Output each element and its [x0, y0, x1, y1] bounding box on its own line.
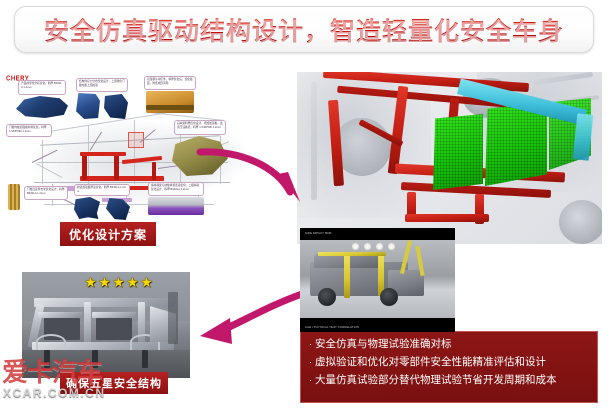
biw-roof-rail: [34, 298, 174, 307]
design-scheme-caption-text: 优化设计方案: [69, 226, 147, 243]
red-member-b-pillar: [82, 154, 87, 180]
five-star-rating: ★ ★ ★ ★ ★: [84, 276, 153, 289]
sim-ghost-pillar: [311, 82, 317, 200]
callout-b-pillar-upper: 结构件应力分布优化设计，上部简化门槛内板上部加强: [76, 78, 128, 92]
biw-rear-door-aperture: [96, 318, 132, 340]
side-impact-simulation-image: [297, 72, 602, 244]
sim-ghost-wheel-lower: [559, 200, 602, 244]
sim-green-door-front: [431, 114, 483, 190]
bullet-text: 安全仿真与物理试验准确对标: [315, 337, 452, 352]
part-render-front-bracket: [8, 184, 20, 210]
red-member-c-pillar: [114, 152, 119, 180]
callout-text: 门槛连接件支架优化设计，料厚 B340LA 1.2mm: [27, 188, 65, 195]
star-icon: ★: [126, 276, 139, 289]
callout-text: 结构件应力分布优化设计，上部简化门槛内板上部加强: [79, 80, 125, 87]
bullet-item: · 虚拟验证和优化对零部件安全性能精准评估和设计: [309, 355, 589, 370]
sim-red-floor-beam: [405, 214, 489, 222]
page-title: 安全仿真驱动结构设计，智造轻量化安全车身: [44, 12, 564, 48]
callout-sill-section: 高强钢冷冲压件，料厚优化后，优化截面，降低成形风险: [144, 76, 196, 90]
arrow-design-to-simulation: [196, 128, 308, 204]
callout-text: 产品成型性分析优化，料厚 B340LA 1.2mm: [21, 82, 63, 89]
arrow-simulation-to-physical: [196, 288, 308, 360]
bullet-item: · 安全仿真与物理试验准确对标: [309, 337, 589, 352]
callout-text: 座椅横梁与地板纵梁连接优化，二级焊接优化设计，料厚 B340LA 1.2mm: [151, 184, 201, 191]
callout-text: 铰链加强板厚度优化，料厚 B340LA 1.2mm: [77, 186, 127, 193]
crash-lamp: [376, 243, 383, 250]
callout-front-bracket: 门槛连接件支架优化设计，料厚 B340LA 1.2mm: [24, 186, 68, 200]
callout-front-wheelhouse: 产品成型性分析优化，料厚 B340LA 1.2mm: [18, 80, 66, 95]
crash-test-inset: SIDE IMPACT MDB CAE / PHYSICAL TEST CORR…: [300, 228, 455, 332]
workshop-column: [168, 292, 178, 344]
red-member-rear-post: [152, 162, 156, 180]
bullet-item: · 大量仿真试验部分替代物理试验节省开发周期和成本: [309, 373, 589, 388]
crash-test-frame: [300, 240, 455, 318]
callout-text: 门槛内板加强板材料优化，料厚 1.5/DP590 1.4mm: [9, 126, 49, 133]
watermark-cn-text: 爱卡汽车: [2, 358, 102, 386]
biw-support-stand: [142, 350, 148, 368]
design-scheme-caption: 优化设计方案: [60, 222, 156, 246]
star-icon: ★: [112, 276, 125, 289]
bullet-text: 大量仿真试验部分替代物理试验节省开发周期和成本: [315, 373, 557, 388]
site-watermark: 爱卡汽车 XCAR.COM.CN: [2, 358, 126, 404]
callout-door-inner: 门槛内板加强板材料优化，料厚 1.5/DP590 1.4mm: [6, 124, 52, 137]
bullet-dot-icon: ·: [309, 337, 312, 352]
bullet-dot-icon: ·: [309, 373, 312, 388]
bullet-text: 虚拟验证和优化对零部件安全性能精准评估和设计: [315, 355, 546, 370]
red-member-cross: [80, 152, 126, 156]
bullet-dot-icon: ·: [309, 355, 312, 370]
crash-inset-bottom-caption: CAE / PHYSICAL TEST CORRELATION: [305, 325, 359, 329]
part-render-sill-base: [146, 105, 194, 110]
crash-wheel-front: [318, 288, 336, 306]
star-icon: ★: [140, 276, 153, 289]
crash-yellow-b-pillar: [344, 252, 350, 298]
star-icon: ★: [84, 276, 97, 289]
star-icon: ★: [98, 276, 111, 289]
slide-title-banner: 安全仿真驱动结构设计，智造轻量化安全车身: [14, 6, 594, 53]
callout-text: 高强钢冷冲压件，料厚优化后，优化截面，降低成形风险: [147, 78, 193, 85]
crash-yellow-roof: [318, 252, 386, 256]
crash-wheel-rear: [380, 288, 398, 306]
part-render-hinge-a: [74, 197, 100, 219]
sim-green-door-rear: [485, 102, 547, 186]
part-render-front-wheelhouse: [16, 96, 68, 118]
conclusion-bullet-panel: · 安全仿真与物理试验准确对标 · 虚拟验证和优化对零部件安全性能精准评估和设计…: [300, 331, 598, 403]
crash-lamp: [352, 243, 359, 250]
crash-inset-top-caption: SIDE IMPACT MDB: [305, 231, 331, 235]
crash-lamp: [388, 243, 395, 250]
crash-lamp: [364, 243, 371, 250]
watermark-en-text: XCAR.COM.CN: [3, 386, 106, 400]
biw-front-wheelwell: [36, 334, 66, 350]
callout-hinge-reinforce: 铰链加强板厚度优化，料厚 B340LA 1.2mm: [74, 184, 130, 196]
